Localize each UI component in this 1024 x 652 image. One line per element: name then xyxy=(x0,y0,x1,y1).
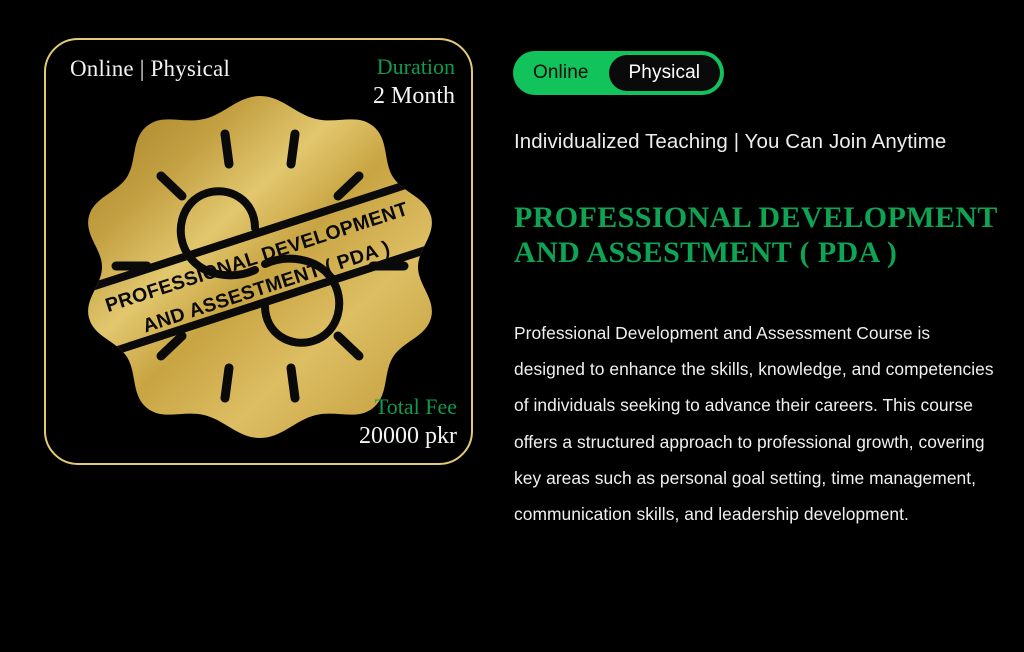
gold-seal-badge-icon: PROFESSIONAL DEVELOPMENT AND ASSESTMENT … xyxy=(69,88,451,443)
toggle-option-online[interactable]: Online xyxy=(517,55,609,91)
card-fee-block: Total Fee 20000 pkr xyxy=(359,394,457,451)
duration-value: 2 Month xyxy=(373,81,455,111)
course-tagline: Individualized Teaching | You Can Join A… xyxy=(514,130,946,154)
total-fee-label: Total Fee xyxy=(359,394,457,421)
delivery-mode-toggle[interactable]: Online Physical xyxy=(513,51,724,95)
course-card[interactable]: Online | Physical Duration 2 Month Total… xyxy=(44,38,473,465)
card-delivery-modes-label: Online | Physical xyxy=(70,56,230,82)
course-description: Professional Development and Assessment … xyxy=(514,315,1006,532)
toggle-option-physical[interactable]: Physical xyxy=(609,55,721,91)
card-duration-block: Duration 2 Month xyxy=(373,54,455,111)
total-fee-value: 20000 pkr xyxy=(359,421,457,451)
course-title: PROFESSIONAL DEVELOPMENT AND ASSESTMENT … xyxy=(514,200,1009,270)
duration-label: Duration xyxy=(373,54,455,81)
course-detail-panel: Online Physical Individualized Teaching … xyxy=(513,0,1013,652)
